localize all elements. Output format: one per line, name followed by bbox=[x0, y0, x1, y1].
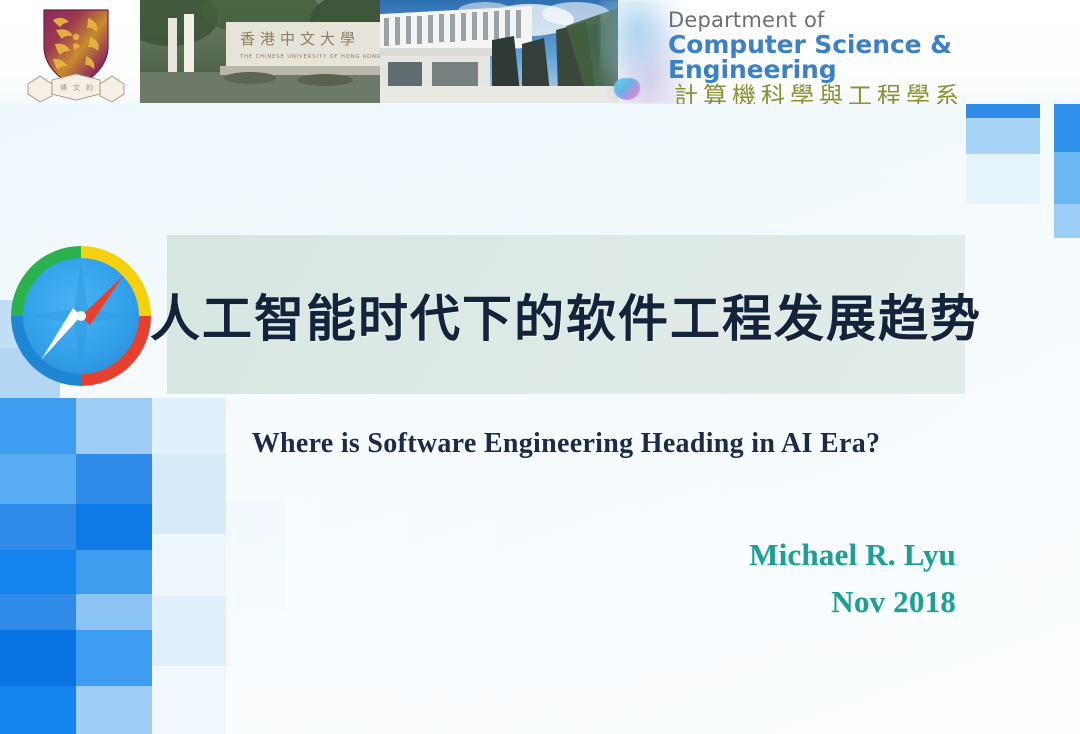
compass-icon bbox=[6, 240, 156, 392]
department-line-3-chinese: 計算機科學與工程學系 bbox=[674, 84, 1080, 104]
department-title-block: Department of Computer Science & Enginee… bbox=[668, 6, 1080, 104]
department-line-2: Computer Science & Engineering bbox=[668, 32, 1080, 82]
gem-decoration bbox=[614, 78, 640, 100]
svg-text:約: 約 bbox=[86, 83, 93, 92]
department-line-1: Department of bbox=[668, 10, 1080, 31]
slide-title-chinese: 人工智能时代下的软件工程发展趋势 bbox=[150, 279, 982, 351]
svg-text:文: 文 bbox=[73, 83, 80, 92]
title-banner: 人工智能时代下的软件工程发展趋势 bbox=[167, 235, 965, 394]
svg-text:香港中文大學: 香港中文大學 bbox=[240, 30, 360, 48]
campus-building-photo bbox=[380, 0, 618, 103]
slide-header: 博 文 約 bbox=[0, 0, 1080, 104]
presentation-slide: 博 文 約 bbox=[0, 0, 1080, 734]
svg-text:博: 博 bbox=[60, 83, 67, 92]
author-block: Michael R. Lyu Nov 2018 bbox=[749, 538, 956, 619]
header-photo-strip: 香港中文大學 THE CHINESE UNIVERSITY OF HONG KO… bbox=[140, 0, 618, 103]
slide-subtitle-english: Where is Software Engineering Heading in… bbox=[167, 428, 965, 460]
presentation-date: Nov 2018 bbox=[749, 585, 956, 618]
author-name: Michael R. Lyu bbox=[749, 538, 956, 571]
cuhk-gate-photo: 香港中文大學 THE CHINESE UNIVERSITY OF HONG KO… bbox=[140, 0, 380, 103]
svg-text:THE CHINESE UNIVERSITY OF HONG: THE CHINESE UNIVERSITY OF HONG KONG bbox=[239, 54, 380, 60]
cuhk-crest-logo: 博 文 約 bbox=[22, 4, 130, 104]
